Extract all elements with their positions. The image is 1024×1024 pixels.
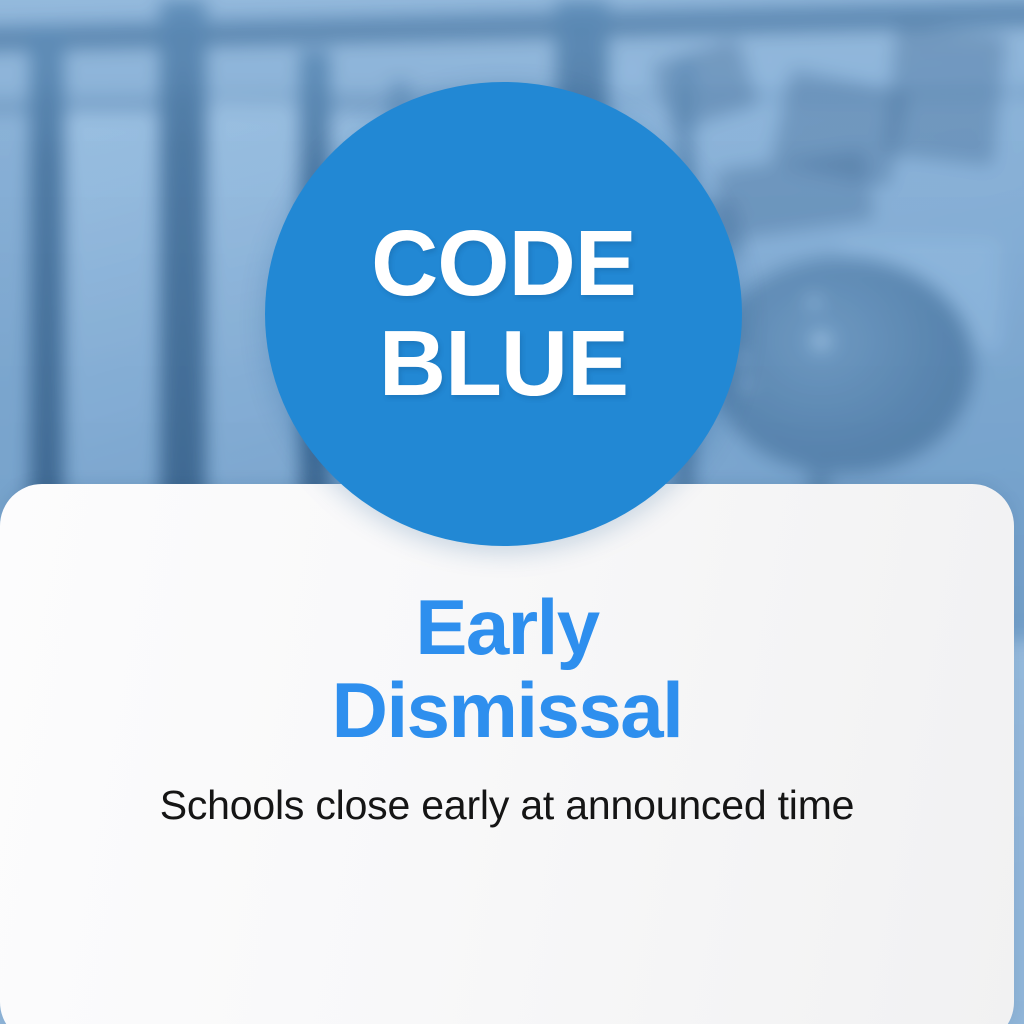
subtitle-text: Schools close early at announced time bbox=[0, 779, 1014, 831]
badge-line-1: CODE bbox=[371, 216, 636, 312]
card-text-block: Early Dismissal Schools close early at a… bbox=[0, 586, 1014, 831]
code-blue-alert-poster: CODE BLUE Early Dismissal Schools close … bbox=[0, 0, 1024, 1024]
code-blue-badge: CODE BLUE bbox=[265, 82, 742, 546]
headline-line-1: Early bbox=[0, 586, 1014, 669]
headline-line-2: Dismissal bbox=[0, 669, 1014, 752]
badge-line-2: BLUE bbox=[379, 316, 628, 412]
